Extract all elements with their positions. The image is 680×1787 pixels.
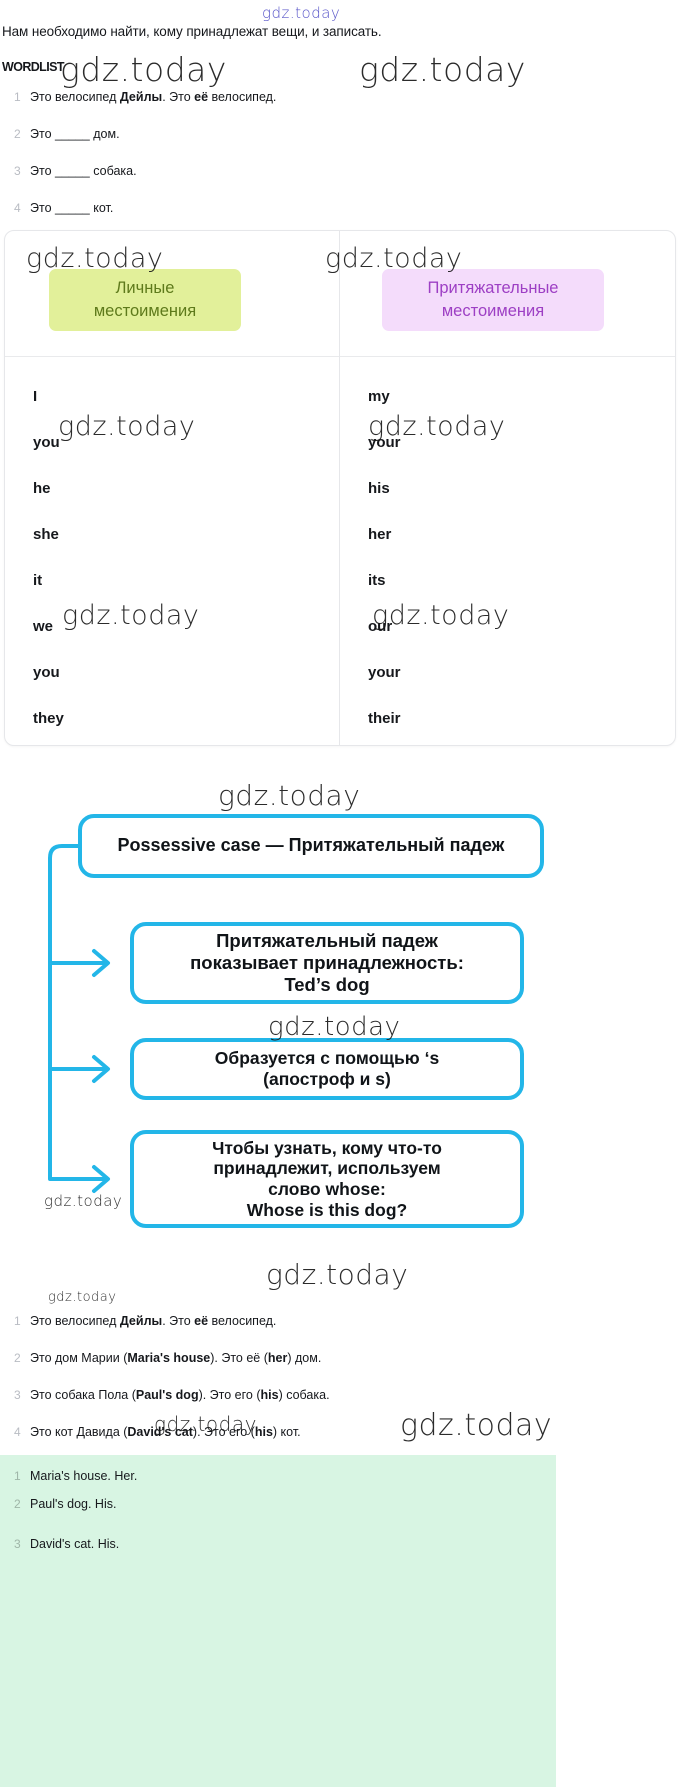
- answer-text: Это кот Давида (David's cat). Это его (h…: [30, 1423, 301, 1441]
- task-number: 3: [14, 162, 30, 180]
- task-text: Это _____ собака.: [30, 162, 137, 180]
- list-item: 1 Maria's house. Her.: [0, 1455, 556, 1495]
- diagram-box4-line3: слово whose:: [268, 1179, 386, 1199]
- task-row: 3 Это _____ собака.: [0, 162, 680, 199]
- diagram-box-formation: Образуется с помощью ‘s (апостроф и s): [130, 1038, 524, 1100]
- diagram-box4-line1: Чтобы узнать, кому что-то: [212, 1138, 442, 1158]
- task-text: Это велосипед Дейлы. Это её велосипед.: [30, 88, 276, 106]
- task-text: Это _____ кот.: [30, 199, 113, 217]
- watermark-text: gdz.today: [262, 4, 340, 22]
- answer-text: David's cat. His.: [30, 1535, 119, 1553]
- answer-number: 3: [14, 1386, 30, 1404]
- possessive-case-diagram: Possessive case — Притяжательный падеж П…: [0, 760, 680, 1300]
- answer-text: Это дом Марии (Maria's house). Это её (h…: [30, 1349, 321, 1367]
- possessive-pronouns-column: Притяжательные местоимения my your his h…: [340, 231, 675, 745]
- diagram-box3-line1: Образуется с помощью ‘s: [215, 1048, 439, 1068]
- answer-number: 1: [14, 1312, 30, 1330]
- answer-text: Это велосипед Дейлы. Это её велосипед.: [30, 1312, 276, 1330]
- answer-text: Это собака Пола (Paul's dog). Это его (h…: [30, 1386, 330, 1404]
- list-item: their: [340, 695, 675, 741]
- answer-number: 4: [14, 1423, 30, 1441]
- answer-number: 2: [14, 1349, 30, 1367]
- answer-number: 2: [14, 1495, 30, 1513]
- list-item: its: [340, 557, 675, 603]
- diagram-box2-line3: Ted’s dog: [284, 974, 369, 995]
- list-item: she: [5, 511, 339, 557]
- diagram-box-meaning: Притяжательный падеж показывает принадле…: [130, 922, 524, 1004]
- watermark-text: gdz.today: [359, 50, 526, 89]
- diagram-box4-line2: принадлежит, используем: [213, 1158, 440, 1178]
- task-row: 2 Это _____ дом.: [0, 125, 680, 162]
- task-number: 2: [14, 125, 30, 143]
- list-item: you: [5, 419, 339, 465]
- list-item: I: [5, 373, 339, 419]
- task-number: 4: [14, 199, 30, 217]
- list-item: you: [5, 649, 339, 695]
- diagram-box3-line2: (апостроф и s): [263, 1069, 391, 1089]
- list-item: our: [340, 603, 675, 649]
- answer-text: Paul's dog. His.: [30, 1495, 116, 1513]
- list-item: your: [340, 419, 675, 465]
- connector-branch-3: [50, 1069, 106, 1179]
- list-item: he: [5, 465, 339, 511]
- personal-pronouns-column: Личные местоимения I you he she it we yo…: [5, 231, 340, 745]
- personal-pronouns-chip: Личные местоимения: [49, 269, 241, 331]
- diagram-box2-line1: Притяжательный падеж: [216, 930, 438, 951]
- list-item: 2 Это дом Марии (Maria's house). Это её …: [0, 1349, 680, 1386]
- list-item: his: [340, 465, 675, 511]
- personal-pronouns-header: Личные местоимения: [5, 231, 339, 357]
- personal-pronouns-list: I you he she it we you they: [5, 357, 339, 741]
- diagram-box2-line2: показывает принадлежность:: [190, 952, 464, 973]
- diagram-box-whose: Чтобы узнать, кому что-то принадлежит, и…: [130, 1130, 524, 1228]
- task-row: 1 Это велосипед Дейлы. Это её велосипед.: [0, 88, 680, 125]
- answer-number: 1: [14, 1467, 30, 1485]
- list-item: 2 Paul's dog. His.: [0, 1495, 556, 1535]
- list-item: we: [5, 603, 339, 649]
- instruction-text: Нам необходимо найти, кому принадлежат в…: [2, 24, 382, 39]
- task-list: 1 Это велосипед Дейлы. Это её велосипед.…: [0, 88, 680, 236]
- list-item: 3 Это собака Пола (Paul's dog). Это его …: [0, 1386, 680, 1423]
- list-item: it: [5, 557, 339, 603]
- possessive-pronouns-header: Притяжательные местоимения: [340, 231, 675, 357]
- possessive-pronouns-chip: Притяжательные местоимения: [382, 269, 604, 331]
- list-item: her: [340, 511, 675, 557]
- diagram-box-title: Possessive case — Притяжательный падеж: [78, 814, 544, 878]
- diagram-box4-line4: Whose is this dog?: [247, 1200, 407, 1220]
- final-answers-block: 1 Maria's house. Her. 2 Paul's dog. His.…: [0, 1455, 556, 1787]
- possessive-pronouns-list: my your his her its our your their: [340, 357, 675, 741]
- answer-text: Maria's house. Her.: [30, 1467, 137, 1485]
- list-item: 1 Это велосипед Дейлы. Это её велосипед.: [0, 1312, 680, 1349]
- list-item: they: [5, 695, 339, 741]
- pronoun-table: Личные местоимения I you he she it we yo…: [4, 230, 676, 746]
- list-item: 3 David's cat. His.: [0, 1535, 556, 1575]
- watermark-text: gdz.today: [60, 50, 227, 89]
- answer-number: 3: [14, 1535, 30, 1553]
- wordlist-label: WORDLIST: [2, 60, 64, 74]
- list-item: my: [340, 373, 675, 419]
- task-text: Это _____ дом.: [30, 125, 120, 143]
- task-number: 1: [14, 88, 30, 106]
- list-item: your: [340, 649, 675, 695]
- connector-branch-2: [50, 963, 106, 1069]
- answers-explained-list: 1 Это велосипед Дейлы. Это её велосипед.…: [0, 1312, 680, 1460]
